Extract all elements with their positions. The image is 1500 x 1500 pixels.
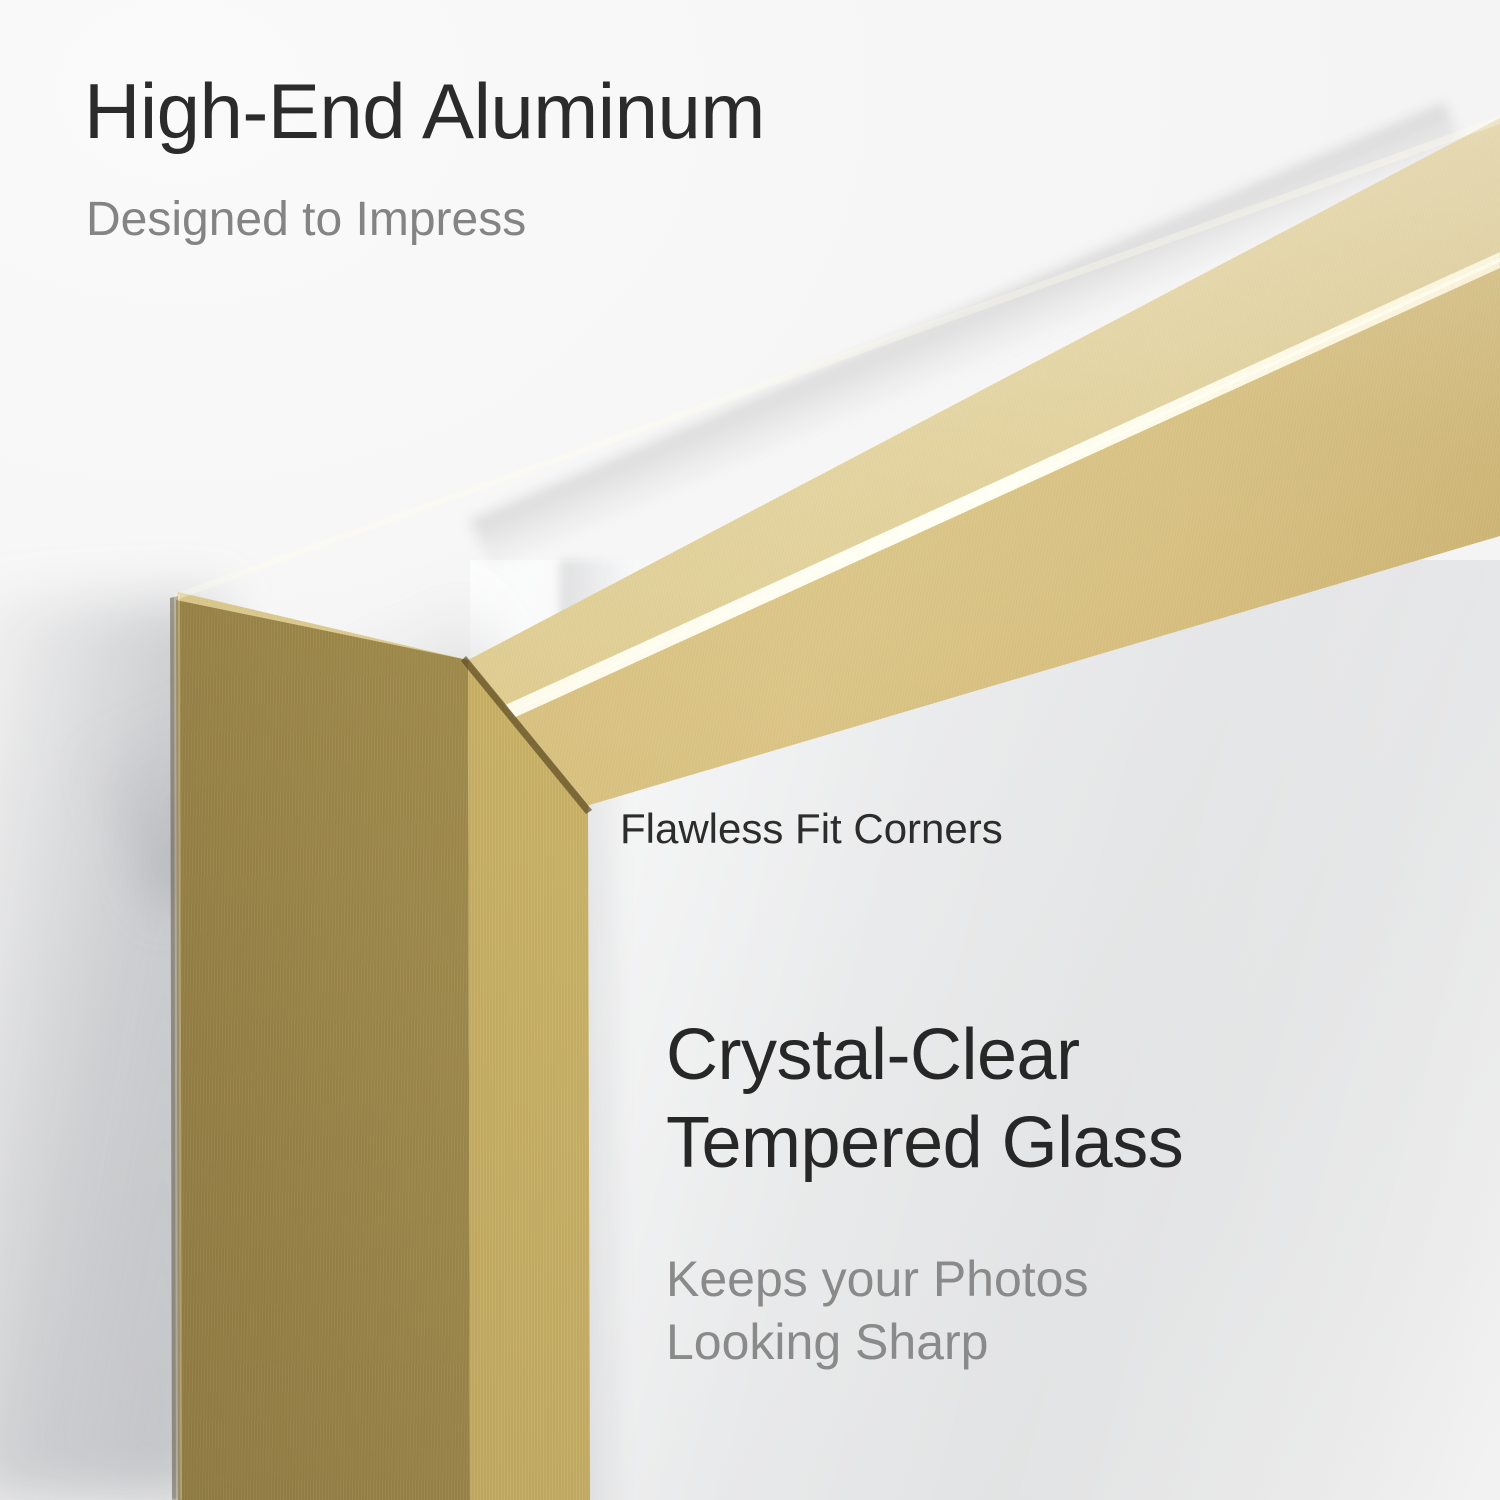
callout-tempered-glass-subtitle-line1: Keeps your Photos xyxy=(666,1248,1089,1311)
page-title: High-End Aluminum xyxy=(84,72,765,150)
callout-tempered-glass-subtitle-line2: Looking Sharp xyxy=(666,1311,1089,1374)
callout-tempered-glass-title: Crystal-Clear Tempered Glass xyxy=(666,1012,1183,1188)
callout-tempered-glass-subtitle: Keeps your Photos Looking Sharp xyxy=(666,1248,1089,1373)
callout-tempered-glass-title-line2: Tempered Glass xyxy=(666,1100,1183,1188)
callout-tempered-glass-title-line1: Crystal-Clear xyxy=(666,1012,1183,1100)
product-feature-image: High-End Aluminum Designed to Impress Fl… xyxy=(0,0,1500,1500)
callout-flawless-fit-corners: Flawless Fit Corners xyxy=(620,808,1003,850)
page-subtitle: Designed to Impress xyxy=(86,196,526,244)
